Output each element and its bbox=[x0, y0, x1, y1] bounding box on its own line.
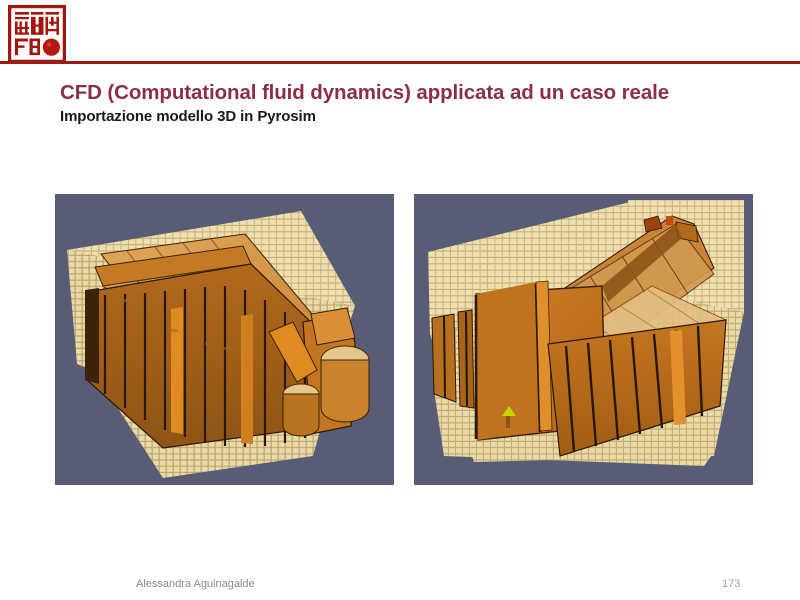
page-title: CFD (Computational fluid dynamics) appli… bbox=[60, 81, 780, 105]
page-subtitle: Importazione modello 3D in Pyrosim bbox=[60, 108, 780, 125]
footer-page-number: 173 bbox=[722, 578, 740, 590]
pyrosim-3d-render-left bbox=[55, 194, 394, 485]
header-accent-rule bbox=[0, 61, 800, 64]
pyrosim-3d-render-right bbox=[414, 194, 753, 485]
figure-pyrosim-3d-view-right bbox=[414, 194, 753, 485]
figure-pyrosim-3d-view-left bbox=[55, 194, 394, 485]
footer-author: Alessandra Aguinagalde bbox=[136, 578, 255, 590]
logo-seal bbox=[8, 5, 66, 63]
red-seal-stamp-icon bbox=[8, 5, 66, 63]
